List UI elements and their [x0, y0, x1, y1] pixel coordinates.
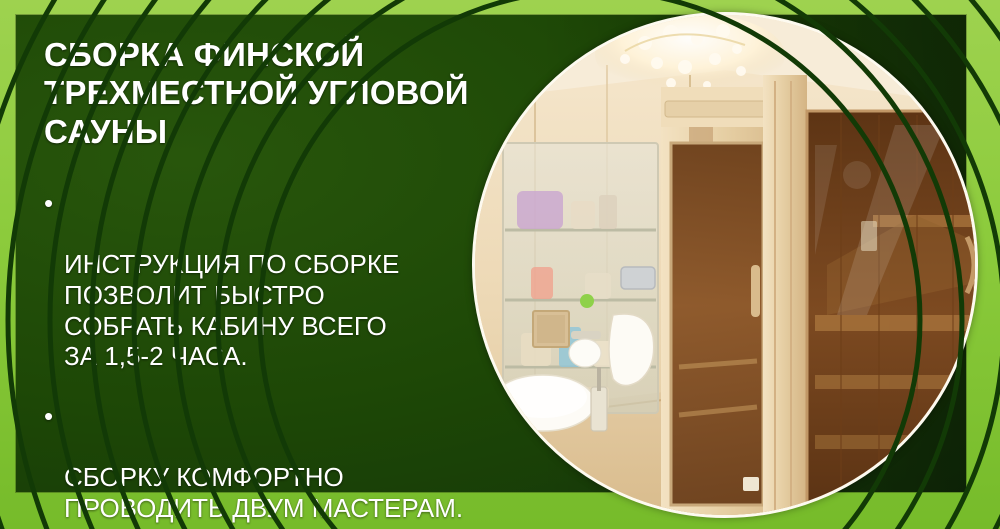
bullet-marker: •: [44, 401, 53, 432]
list-item: • СБОРКУ КОМФОРТНО ПРОВОДИТЬ ДВУМ МАСТЕР…: [44, 400, 514, 524]
promo-banner: СБОРКА ФИНСКОЙ ТРЕХМЕСТНОЙ УГЛОВОЙ САУНЫ…: [0, 0, 1000, 529]
sauna-photo: [472, 12, 978, 518]
list-item: • ИНСТРУКЦИЯ ПО СБОРКЕ ПОЗВОЛИТ БЫСТРО С…: [44, 187, 514, 373]
sauna-photo-illustration: [475, 15, 975, 515]
list-item-text: ИНСТРУКЦИЯ ПО СБОРКЕ ПОЗВОЛИТ БЫСТРО СОБ…: [64, 249, 399, 372]
page-title: СБОРКА ФИНСКОЙ ТРЕХМЕСТНОЙ УГЛОВОЙ САУНЫ: [44, 36, 514, 151]
text-column: СБОРКА ФИНСКОЙ ТРЕХМЕСТНОЙ УГЛОВОЙ САУНЫ…: [44, 36, 514, 524]
bullet-marker: •: [44, 188, 53, 219]
feature-list: • ИНСТРУКЦИЯ ПО СБОРКЕ ПОЗВОЛИТ БЫСТРО С…: [44, 187, 514, 524]
list-item-text: СБОРКУ КОМФОРТНО ПРОВОДИТЬ ДВУМ МАСТЕРАМ…: [64, 462, 463, 523]
